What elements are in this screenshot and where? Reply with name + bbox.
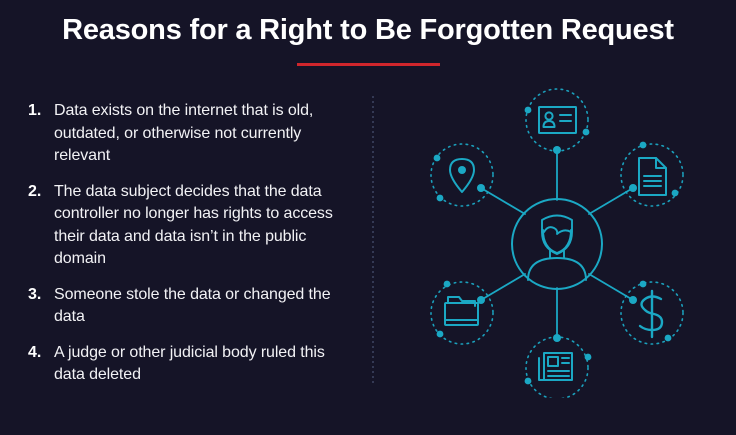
document-icon bbox=[639, 158, 666, 195]
folder-icon bbox=[445, 297, 478, 325]
node-dollar bbox=[621, 281, 683, 344]
list-item-text: A judge or other judicial body ruled thi… bbox=[54, 342, 358, 387]
infographic-page: Reasons for a Right to Be Forgotten Requ… bbox=[0, 0, 736, 435]
title-accent-underline bbox=[297, 63, 440, 66]
node-folder bbox=[431, 281, 493, 344]
list-item-number: 1. bbox=[28, 100, 54, 123]
reasons-list: 1. Data exists on the internet that is o… bbox=[28, 100, 358, 400]
id-card-icon bbox=[539, 107, 576, 133]
page-title: Reasons for a Right to Be Forgotten Requ… bbox=[0, 10, 736, 50]
node-newspaper bbox=[525, 337, 592, 398]
title-block: Reasons for a Right to Be Forgotten Requ… bbox=[0, 10, 736, 66]
list-item: 3. Someone stole the data or changed the… bbox=[28, 284, 358, 329]
list-item-text: The data subject decides that the data c… bbox=[54, 181, 358, 271]
dollar-sign-icon bbox=[640, 291, 662, 337]
node-id-card bbox=[525, 89, 590, 151]
node-location bbox=[431, 144, 493, 206]
list-item-number: 4. bbox=[28, 342, 54, 365]
central-hub-circle bbox=[512, 199, 602, 289]
newspaper-icon bbox=[539, 353, 572, 380]
location-pin-icon bbox=[450, 159, 474, 192]
watermark bbox=[305, 404, 475, 424]
person-avatar-icon bbox=[528, 216, 586, 281]
hub-and-spoke-diagram bbox=[400, 88, 720, 398]
list-item-number: 3. bbox=[28, 284, 54, 307]
list-item: 4. A judge or other judicial body ruled … bbox=[28, 342, 358, 387]
dotted-ring bbox=[526, 337, 588, 398]
list-item: 1. Data exists on the internet that is o… bbox=[28, 100, 358, 168]
list-item-number: 2. bbox=[28, 181, 54, 204]
list-item: 2. The data subject decides that the dat… bbox=[28, 181, 358, 271]
dotted-ring bbox=[526, 89, 588, 151]
spoke-lines bbox=[481, 150, 633, 338]
node-document bbox=[621, 142, 683, 206]
list-item-text: Data exists on the internet that is old,… bbox=[54, 100, 358, 168]
list-item-text: Someone stole the data or changed the da… bbox=[54, 284, 358, 329]
vertical-dotted-divider bbox=[372, 96, 374, 386]
